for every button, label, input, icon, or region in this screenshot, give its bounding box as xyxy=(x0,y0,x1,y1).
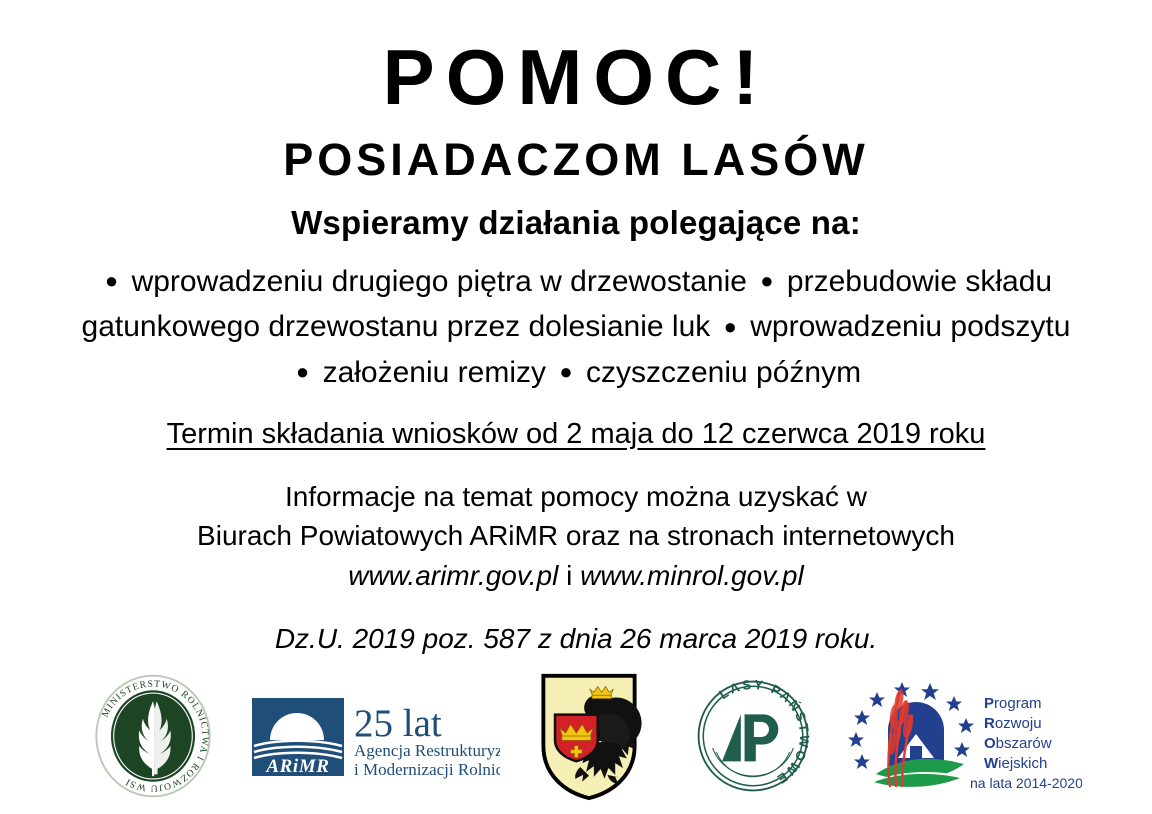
action-item-4: wprowadzeniu podszytu xyxy=(750,310,1070,343)
action-item-6: czyszczeniu późnym xyxy=(586,356,861,389)
bullet-icon: ● xyxy=(554,359,577,384)
prow-logo-icon: Program Rozwoju Obszarów Wiejskich na la… xyxy=(842,678,1082,794)
deadline-text: Termin składania wniosków od 2 maja do 1… xyxy=(167,418,986,451)
prow-line-4: Wiejskich xyxy=(984,755,1047,772)
lasy-panstwowe-icon: LASY PAŃSTWOWE xyxy=(692,675,814,797)
poster-root: POMOC! POSIADACZOM LASÓW Wspieramy dział… xyxy=(0,0,1152,814)
lead-text: Wspieramy działania polegające na: xyxy=(291,204,861,242)
logo-ministry: MINISTERSTWO ROLNICTWA I ROZWOJU WSI xyxy=(65,670,241,802)
actions-list: ● wprowadzeniu drugiego piętra w drzewos… xyxy=(16,259,1136,396)
action-item-5: założeniu remizy xyxy=(323,356,546,389)
legal-reference: Dz.U. 2019 poz. 587 z dnia 26 marca 2019… xyxy=(275,623,877,655)
page-subtitle: POSIADACZOM LASÓW xyxy=(283,136,868,183)
arimr-line-1: Agencja Restrukturyzacji xyxy=(354,741,500,760)
action-line-2: gatunkowego drzewostanu przez dolesianie… xyxy=(16,304,1136,350)
arimr-logo-icon: ARiMR 25 lat Agencja Restrukturyzacji i … xyxy=(250,690,500,782)
arimr-mark-text: ARiMR xyxy=(265,756,329,777)
bullet-icon: ● xyxy=(291,359,314,384)
page-title: POMOC! xyxy=(383,38,770,118)
arimr-line-2: i Modernizacji Rolnictwa xyxy=(354,760,500,779)
ministry-seal-icon: MINISTERSTWO ROLNICTWA I ROZWOJU WSI xyxy=(89,672,217,800)
prow-period: na lata 2014-2020 xyxy=(970,775,1082,791)
info-block: Informacje na temat pomocy można uzyskać… xyxy=(197,477,955,596)
info-line-1: Informacje na temat pomocy można uzyskać… xyxy=(197,477,955,517)
logo-coat-of-arms xyxy=(509,670,669,802)
coat-of-arms-icon xyxy=(533,670,645,802)
action-item-1: wprowadzeniu drugiego piętra w drzewosta… xyxy=(132,265,747,298)
url-arimr[interactable]: www.arimr.gov.pl xyxy=(348,560,558,591)
prow-line-1: Program xyxy=(984,695,1042,712)
url-conjunction: i xyxy=(566,560,572,591)
prow-line-3: Obszarów xyxy=(984,735,1052,752)
arimr-anniversary: 25 lat xyxy=(354,702,442,745)
logo-lasy-panstwowe: LASY PAŃSTWOWE xyxy=(669,670,837,802)
logo-strip: MINISTERSTWO ROLNICTWA I ROZWOJU WSI xyxy=(0,666,1152,806)
info-line-2: Biurach Powiatowych ARiMR oraz na strona… xyxy=(197,516,955,556)
bullet-icon: ● xyxy=(755,268,778,293)
logo-prow: Program Rozwoju Obszarów Wiejskich na la… xyxy=(837,670,1087,802)
bullet-icon: ● xyxy=(100,268,123,293)
action-item-3: gatunkowego drzewostanu przez dolesianie… xyxy=(82,310,711,343)
action-line-1: ● wprowadzeniu drugiego piętra w drzewos… xyxy=(16,259,1136,305)
info-line-urls: www.arimr.gov.pl i www.minrol.gov.pl xyxy=(197,556,955,596)
prow-line-2: Rozwoju xyxy=(984,715,1042,732)
bullet-icon: ● xyxy=(719,314,742,339)
url-minrol[interactable]: www.minrol.gov.pl xyxy=(580,560,804,591)
action-line-3: ● założeniu remizy ● czyszczeniu późnym xyxy=(16,350,1136,396)
logo-arimr: ARiMR 25 lat Agencja Restrukturyzacji i … xyxy=(241,670,509,802)
action-item-2: przebudowie składu xyxy=(787,265,1052,298)
